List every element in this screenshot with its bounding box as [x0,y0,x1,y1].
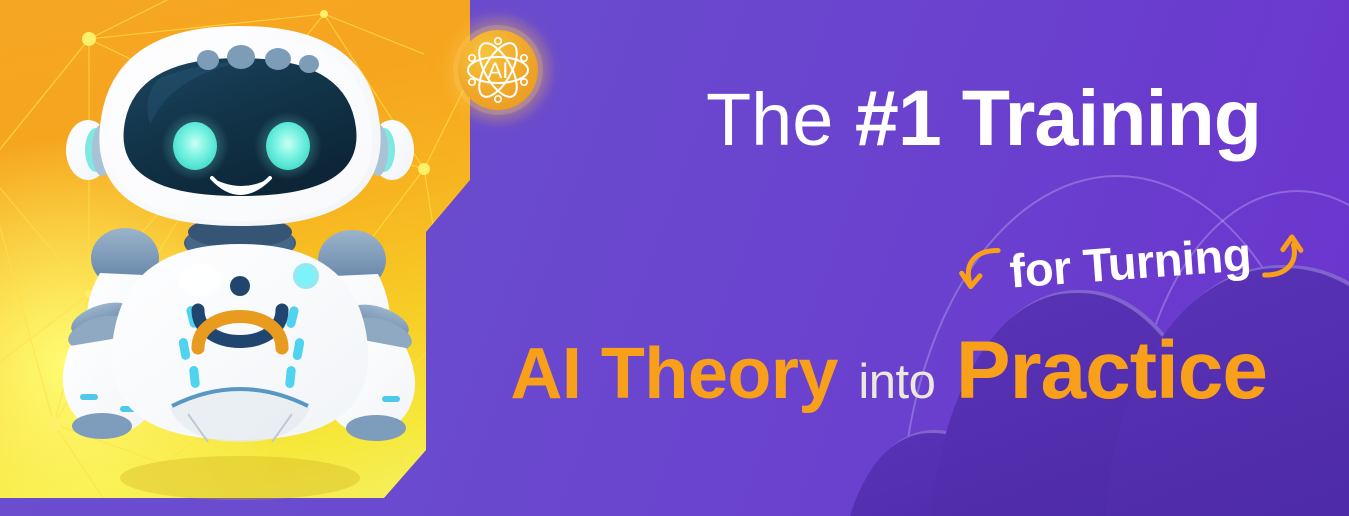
subline: for Turning [1008,226,1253,299]
robot-mascot-illustration [40,8,440,508]
tagline-connector: into [858,355,935,409]
headline: The #1 Training [706,78,1261,157]
robot-body [112,244,369,442]
curved-arrow-down-left-icon [956,242,1010,298]
curved-arrow-up-right-icon [1253,228,1307,284]
robot-eye-right [266,122,310,170]
subline-text: for Turning [1008,227,1253,298]
robot-eye-left [173,122,217,170]
robot-head [66,26,414,226]
headline-lead: The [706,78,834,161]
tagline-part-one: AI Theory [510,334,838,414]
promo-banner: AI The #1 Training for Turning AI Theory… [0,0,1349,516]
tagline-part-two: Practice [956,325,1267,416]
banner-copy: The #1 Training for Turning AI Theory in… [470,0,1349,516]
headline-emphasis: #1 Training [855,73,1261,162]
tagline: AI Theory into Practice [510,330,1267,412]
